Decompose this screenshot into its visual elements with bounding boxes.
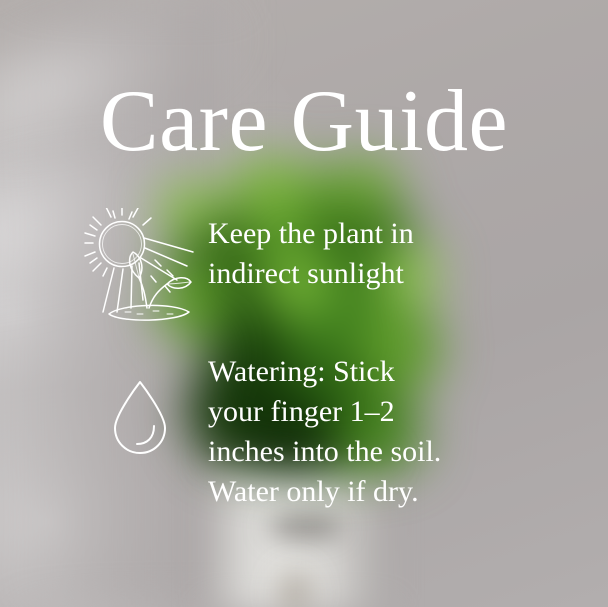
- care-tip-sunlight: Keep the plant in indirect sunlight: [78, 208, 414, 326]
- care-tip-sunlight-text: Keep the plant in indirect sunlight: [208, 208, 414, 294]
- care-guide-graphic: Care Guide: [0, 0, 608, 607]
- care-tip-watering-text: Watering: Stick your finger 1–2 inches i…: [208, 352, 441, 512]
- water-drop-icon: [78, 352, 202, 458]
- care-tip-watering: Watering: Stick your finger 1–2 inches i…: [78, 352, 441, 512]
- sun-over-seedling-icon: [78, 208, 202, 326]
- page-title: Care Guide: [0, 78, 608, 166]
